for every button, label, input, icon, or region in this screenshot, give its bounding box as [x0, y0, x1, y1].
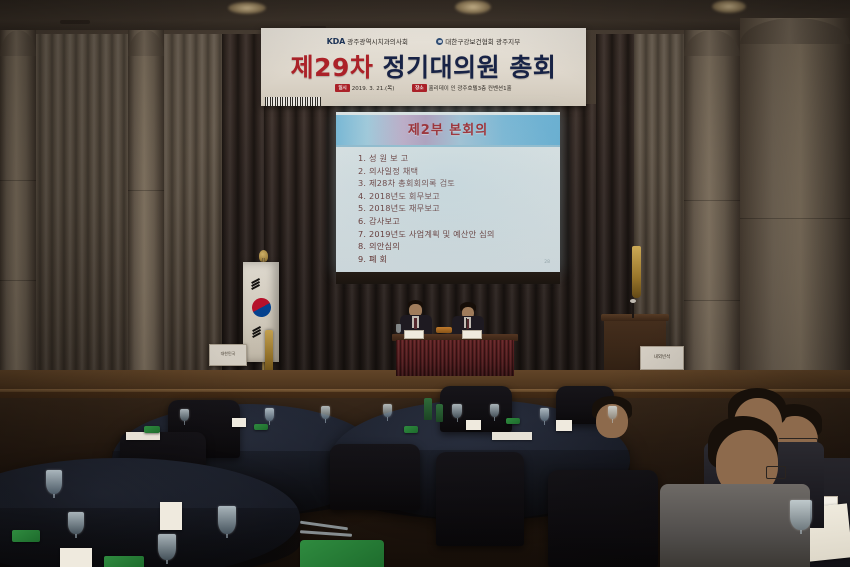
napkin [506, 418, 520, 424]
association-logo-icon [436, 38, 443, 45]
table-microphone-icon [466, 318, 467, 330]
napkin [404, 426, 418, 433]
korean-flag [243, 262, 279, 362]
water-glass [218, 506, 236, 534]
banquet-chair [330, 444, 420, 510]
curtain-panel [28, 34, 132, 390]
water-glass [452, 404, 462, 418]
name-card [556, 420, 572, 431]
document [126, 432, 160, 440]
water-bottle [436, 404, 443, 422]
slide-title: 제2부 본회의 [336, 119, 560, 138]
podium-top [601, 314, 669, 321]
name-placard [462, 330, 482, 339]
water-glass [540, 408, 549, 421]
name-card [60, 548, 92, 567]
banner-date-value: 2019. 3. 21.(목) [352, 86, 395, 92]
water-glass [180, 409, 189, 421]
ceiling-vent [60, 20, 90, 24]
banner-barcode [265, 97, 321, 106]
banner-details: 일시2019. 3. 21.(목) 장소홀리데이 인 광주호텔3층 컨벤션1홀 [261, 84, 586, 92]
column-capital [740, 18, 850, 44]
attendee-front-left [690, 404, 810, 567]
agenda-item: 3. 제28차 총회회의록 검토 [358, 177, 552, 190]
napkin [104, 556, 144, 567]
banner-title: 제29차 정기대의원 총회 [261, 48, 586, 84]
water-glass [68, 512, 84, 534]
water-bottle [424, 398, 432, 420]
banner-org-left: 광주광역시치과의사회 [347, 38, 408, 46]
column-capital [0, 30, 36, 56]
agenda-item: 9. 폐 회 [358, 253, 552, 266]
banner-place-tag: 장소 [412, 84, 426, 92]
water-glass [396, 324, 401, 333]
water-glass [265, 408, 274, 421]
column-capital [684, 30, 740, 56]
flag-placard: 대한민국 [209, 344, 247, 366]
agenda-item: 5. 2018년도 재무보고 [358, 202, 552, 215]
banner-organizations: KDA 광주광역시치과의사회 대한구강보건협회 광주지부 [261, 36, 586, 46]
slide-page-number: 28 [544, 260, 550, 265]
banner-place-value: 홀리데이 인 광주호텔3층 컨벤션1홀 [429, 86, 512, 92]
name-card [160, 502, 182, 530]
banner-date-tag: 일시 [335, 84, 349, 92]
banner-org-right: 대한구강보건협회 광주지부 [445, 38, 520, 46]
napkin [144, 426, 160, 433]
water-glass [790, 500, 812, 530]
banner-title-main: 정기대의원 총회 [383, 53, 557, 82]
kda-logo-text: KDA [327, 37, 345, 46]
water-glass [158, 534, 176, 560]
napkin [12, 530, 40, 542]
taeguk-symbol [249, 295, 275, 321]
head-table [392, 334, 518, 376]
name-card [466, 420, 481, 430]
attendee-back-right [586, 396, 656, 456]
flag-tassel [632, 246, 641, 298]
event-banner: KDA 광주광역시치과의사회 대한구강보건협회 광주지부 제29차 정기대의원 … [261, 28, 586, 106]
ceiling-light [228, 2, 266, 14]
name-placard [404, 330, 424, 339]
banner-place-wrap: 장소홀리데이 인 광주호텔3층 컨벤션1홀 [412, 86, 512, 92]
agenda-item: 2. 의사일정 채택 [358, 165, 552, 178]
screen-bottom-shadow [336, 272, 560, 284]
structural-column [684, 30, 740, 402]
gavel-block [436, 327, 452, 333]
napkin [254, 424, 268, 430]
banner-org-right-wrap: 대한구강보건협회 광주지부 [436, 38, 520, 46]
napkin [300, 540, 384, 567]
conference-hall-photo: KDA 광주광역시치과의사회 대한구강보건협회 광주지부 제29차 정기대의원 … [0, 0, 850, 567]
agenda-item: 4. 2018년도 회무보고 [358, 190, 552, 203]
projection-screen: 제2부 본회의 1. 성 원 보 고 2. 의사일정 채택 3. 제28차 총회… [336, 112, 560, 272]
ceiling-light [712, 0, 746, 13]
water-glass [46, 470, 62, 494]
agenda-item: 6. 감사보고 [358, 215, 552, 228]
banner-title-prefix: 제29차 [291, 53, 374, 82]
slide-agenda-list: 1. 성 원 보 고 2. 의사일정 채택 3. 제28차 총회회의록 검토 4… [358, 152, 552, 265]
banquet-chair [548, 470, 658, 567]
column-capital [128, 30, 164, 56]
water-glass [608, 406, 617, 419]
structural-column [0, 30, 36, 402]
agenda-item: 7. 2019년도 사업계획 및 예산안 심의 [358, 228, 552, 241]
ceiling-light [455, 0, 491, 14]
water-glass [383, 404, 392, 417]
agenda-item: 1. 성 원 보 고 [358, 152, 552, 165]
suit-jacket [660, 484, 810, 567]
eyeglasses-icon [766, 466, 786, 479]
flag-placard-text: 대한민국 [210, 351, 246, 357]
banquet-chair [436, 452, 524, 546]
agenda-item: 8. 의안심의 [358, 240, 552, 253]
head-table-skirt [396, 340, 514, 376]
water-glass [490, 404, 499, 417]
water-glass [321, 406, 330, 419]
reserved-seat-text: 내외빈석 [641, 354, 683, 360]
structural-column [128, 30, 164, 402]
structural-column [740, 18, 850, 408]
curtain-panel [160, 34, 222, 390]
necktie [414, 318, 417, 329]
podium-microphone-icon [632, 302, 634, 318]
reserved-seat-placard: 내외빈석 [640, 346, 684, 370]
document [492, 432, 532, 440]
name-card [232, 418, 246, 427]
